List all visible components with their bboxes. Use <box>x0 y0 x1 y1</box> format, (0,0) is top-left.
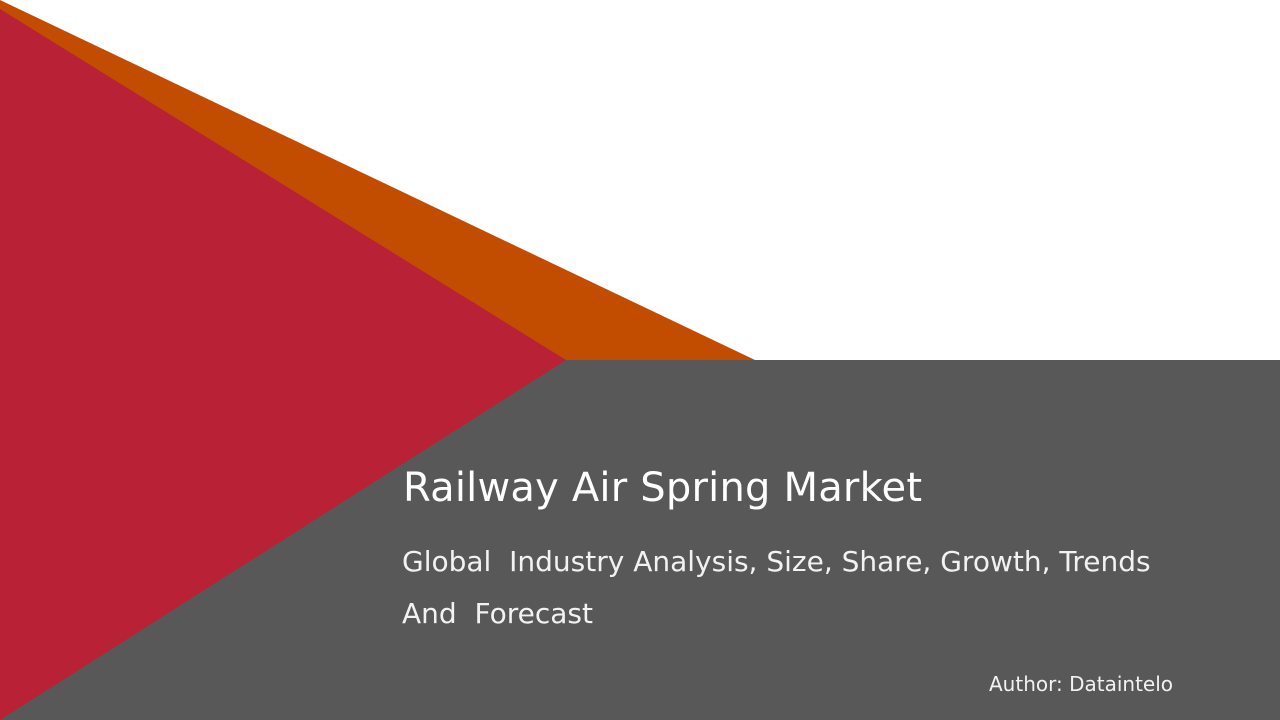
author-label: Author: Dataintelo <box>989 671 1173 697</box>
slide-subtitle: Global Industry Analysis, Size, Share, G… <box>402 536 1162 640</box>
slide-text-layer: Railway Air Spring Market Global Industr… <box>0 0 1280 720</box>
title-slide: Railway Air Spring Market Global Industr… <box>0 0 1280 720</box>
page-title: Railway Air Spring Market <box>403 465 922 511</box>
